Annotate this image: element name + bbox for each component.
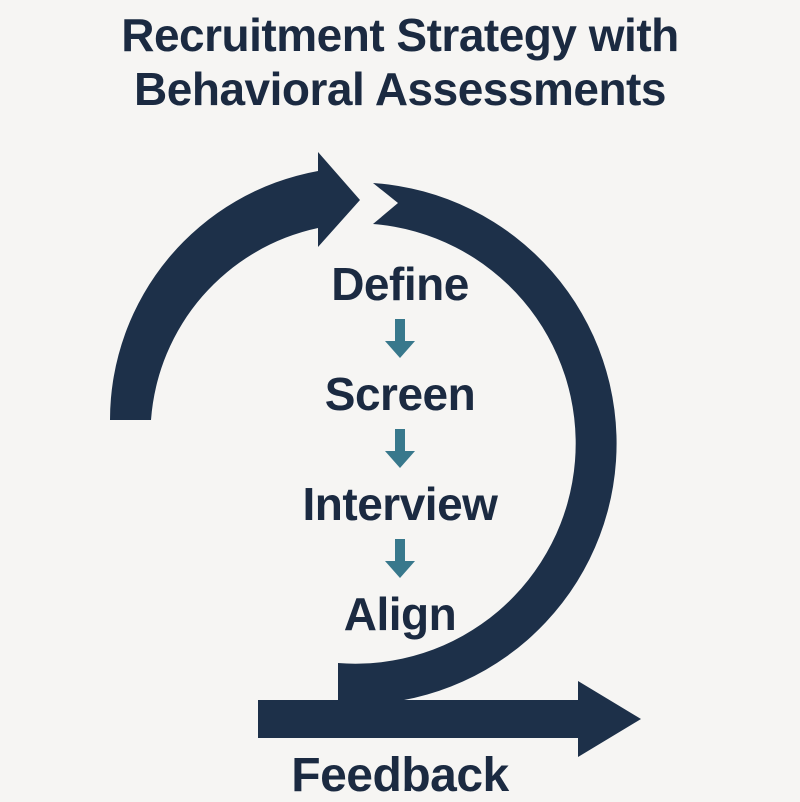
arrow-down-icon (260, 420, 540, 478)
step-label-interview: Interview (260, 478, 540, 530)
arrow-right-icon (258, 681, 641, 757)
feedback-label: Feedback (0, 752, 800, 800)
arrow-down-icon (260, 530, 540, 588)
step-label-define: Define (260, 258, 540, 310)
step-list: Define Screen Interview Align (260, 258, 540, 640)
arrow-down-icon (260, 310, 540, 368)
step-label-screen: Screen (260, 368, 540, 420)
step-label-align: Align (260, 588, 540, 640)
diagram-canvas: Recruitment Strategy with Behavioral Ass… (0, 0, 800, 800)
